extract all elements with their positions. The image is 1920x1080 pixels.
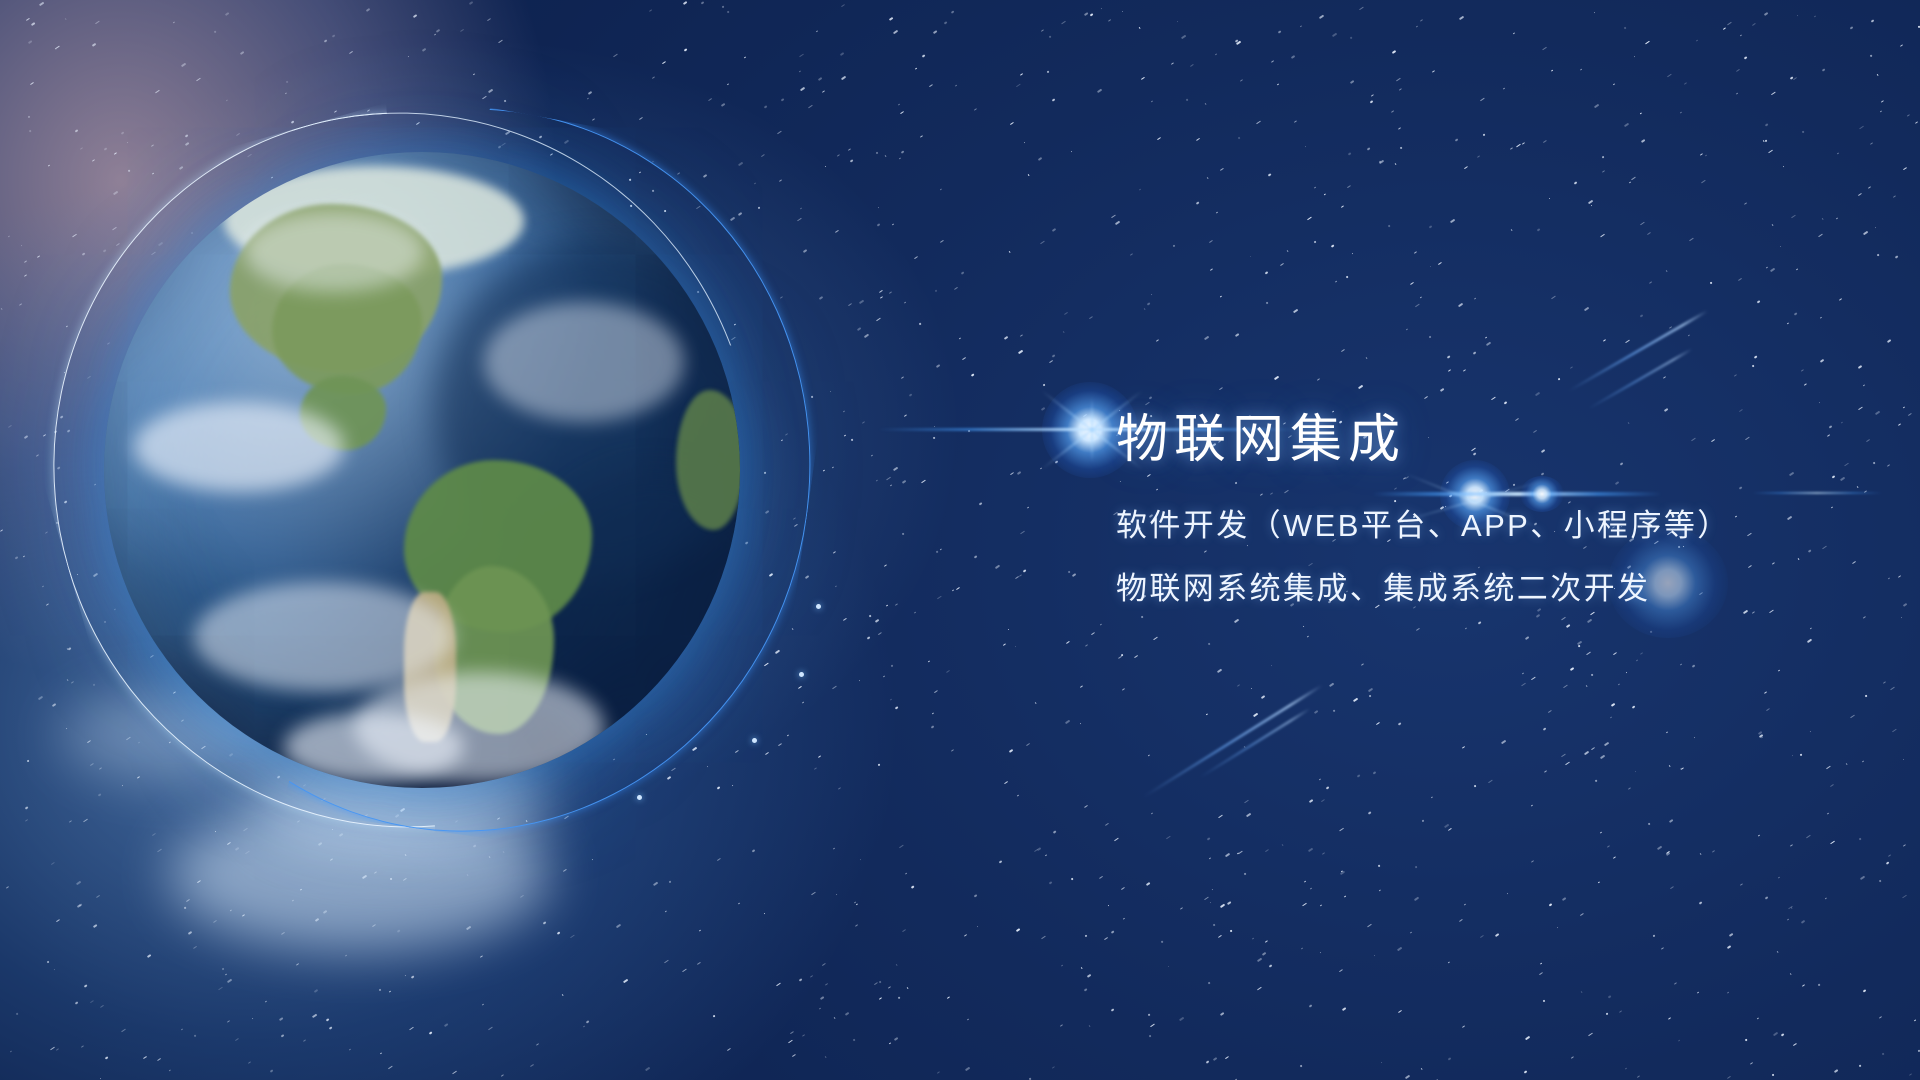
orbit-node-2 [799,672,804,677]
page-title: 物联网集成 [1116,414,1856,467]
subtitle-line-2: 物联网系统集成、集成系统二次开发 [1116,558,1856,619]
banner-subtitle: 软件开发（WEB平台、APP、小程序等） 物联网系统集成、集成系统二次开发 [1116,495,1856,620]
orbit-node-4 [637,795,642,800]
meteor-streak-4 [1199,708,1310,779]
orbit-node-1 [816,604,821,609]
banner-copy: 物联网集成 软件开发（WEB平台、APP、小程序等） 物联网系统集成、集成系统二… [1116,414,1856,622]
meteor-streak-3 [1143,685,1322,798]
meteor-streak-1 [1568,310,1708,392]
orbit-node-3 [752,738,757,743]
hero-banner: 物联网集成 软件开发（WEB平台、APP、小程序等） 物联网系统集成、集成系统二… [0,0,1920,1080]
meteor-streak-2 [1588,348,1693,410]
lens-flare-ray-c [1091,398,1093,462]
subtitle-line-1: 软件开发（WEB平台、APP、小程序等） [1116,495,1856,556]
